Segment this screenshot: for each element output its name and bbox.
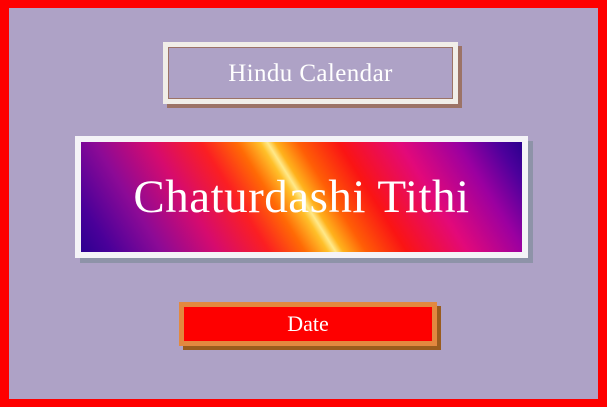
page-canvas: Hindu Calendar Chaturdashi Tithi Date: [9, 8, 598, 399]
app-window: Hindu Calendar Chaturdashi Tithi Date: [0, 0, 607, 407]
page-title: Hindu Calendar: [168, 47, 453, 99]
header-title-box: Hindu Calendar: [163, 42, 458, 104]
date-button-label: Date: [184, 307, 432, 341]
date-button[interactable]: Date: [179, 302, 437, 346]
tithi-name-label: Chaturdashi Tithi: [81, 142, 522, 252]
tithi-banner: Chaturdashi Tithi: [75, 136, 528, 258]
